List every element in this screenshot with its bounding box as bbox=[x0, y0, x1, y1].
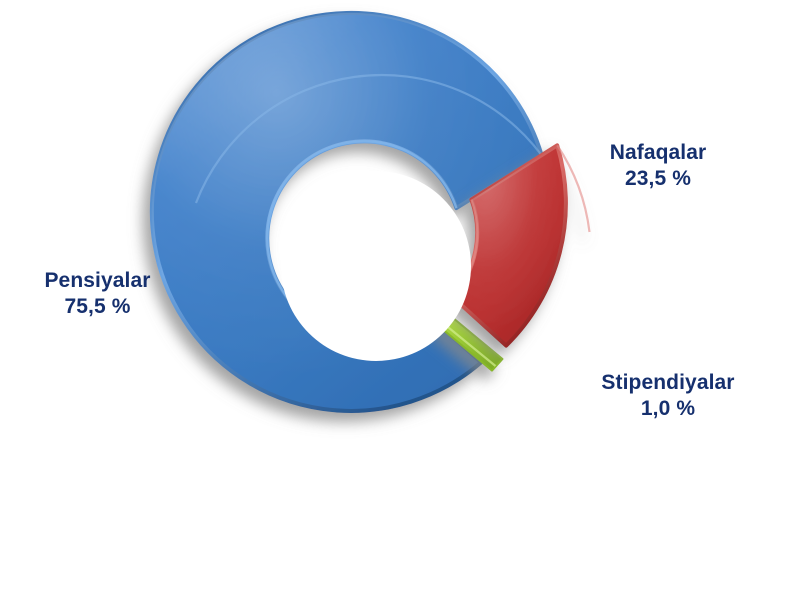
slice-label-pensiyalar-value: 75,5 % bbox=[10, 294, 185, 320]
slice-label-stipendiyalar-name: Stipendiyalar bbox=[578, 370, 758, 396]
slice-label-stipendiyalar: Stipendiyalar 1,0 % bbox=[578, 370, 758, 422]
slice-label-pensiyalar: Pensiyalar 75,5 % bbox=[10, 268, 185, 320]
slice-label-pensiyalar-name: Pensiyalar bbox=[10, 268, 185, 294]
slice-label-nafaqalar-name: Nafaqalar bbox=[588, 140, 728, 166]
donut-hole-shading bbox=[281, 171, 471, 361]
slice-label-stipendiyalar-value: 1,0 % bbox=[578, 396, 758, 422]
chart-canvas: Pensiyalar 75,5 % Nafaqalar 23,5 % Stipe… bbox=[0, 0, 800, 599]
slice-label-nafaqalar: Nafaqalar 23,5 % bbox=[588, 140, 728, 192]
slice-label-nafaqalar-value: 23,5 % bbox=[588, 166, 728, 192]
